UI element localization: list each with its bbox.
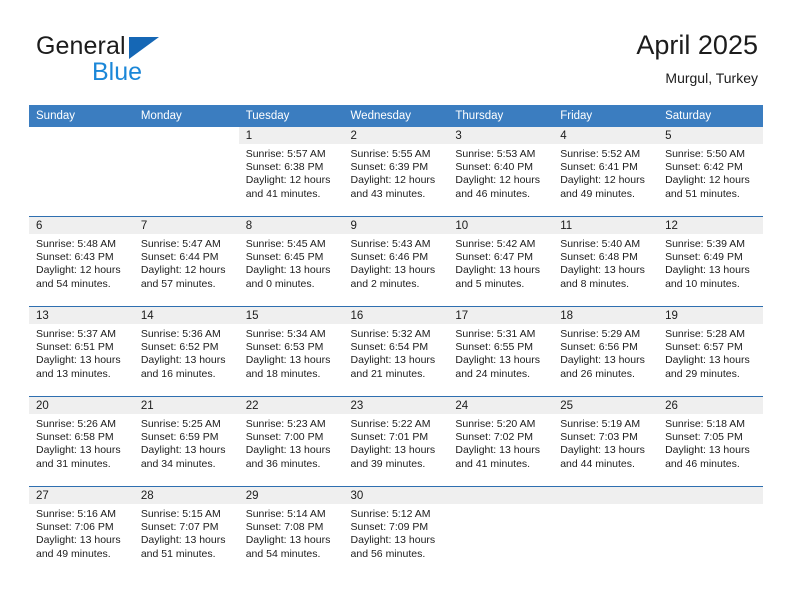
day-cell-inner: 9Sunrise: 5:43 AMSunset: 6:46 PMDaylight… — [344, 217, 449, 306]
day-cell-inner: 8Sunrise: 5:45 AMSunset: 6:45 PMDaylight… — [239, 217, 344, 306]
calendar-day-cell[interactable]: 11Sunrise: 5:40 AMSunset: 6:48 PMDayligh… — [553, 217, 658, 307]
calendar-day-cell[interactable]: 21Sunrise: 5:25 AMSunset: 6:59 PMDayligh… — [134, 397, 239, 487]
brand-logo[interactable]: General Blue — [36, 32, 276, 88]
day-detail-line: Sunset: 6:39 PM — [351, 161, 443, 174]
calendar-day-cell[interactable]: 28Sunrise: 5:15 AMSunset: 7:07 PMDayligh… — [134, 487, 239, 577]
calendar-day-cell[interactable]: 13Sunrise: 5:37 AMSunset: 6:51 PMDayligh… — [29, 307, 134, 397]
day-detail-line: and 21 minutes. — [351, 368, 443, 381]
day-cell-inner: 11Sunrise: 5:40 AMSunset: 6:48 PMDayligh… — [553, 217, 658, 306]
day-number: 17 — [448, 307, 553, 324]
calendar-day-cell[interactable]: 20Sunrise: 5:26 AMSunset: 6:58 PMDayligh… — [29, 397, 134, 487]
day-cell-inner — [658, 487, 763, 576]
day-detail-line: Sunrise: 5:25 AM — [141, 418, 233, 431]
day-sun-details: Sunrise: 5:14 AMSunset: 7:08 PMDaylight:… — [239, 504, 344, 561]
day-cell-inner — [448, 487, 553, 576]
day-cell-inner: 13Sunrise: 5:37 AMSunset: 6:51 PMDayligh… — [29, 307, 134, 396]
day-detail-line: and 54 minutes. — [36, 278, 128, 291]
calendar-day-cell[interactable]: 3Sunrise: 5:53 AMSunset: 6:40 PMDaylight… — [448, 127, 553, 217]
day-detail-line: Daylight: 13 hours — [36, 534, 128, 547]
day-sun-details: Sunrise: 5:42 AMSunset: 6:47 PMDaylight:… — [448, 234, 553, 291]
day-detail-line: and 57 minutes. — [141, 278, 233, 291]
day-detail-line: and 49 minutes. — [36, 548, 128, 561]
weekday-header-tuesday: Tuesday — [239, 105, 344, 127]
day-number: 8 — [239, 217, 344, 234]
calendar-day-cell[interactable]: 29Sunrise: 5:14 AMSunset: 7:08 PMDayligh… — [239, 487, 344, 577]
day-detail-line: Sunset: 6:48 PM — [560, 251, 652, 264]
day-number: 25 — [553, 397, 658, 414]
day-number: 20 — [29, 397, 134, 414]
day-detail-line: Sunset: 6:49 PM — [665, 251, 757, 264]
day-detail-line: and 36 minutes. — [246, 458, 338, 471]
day-number: 2 — [344, 127, 449, 144]
calendar-day-cell[interactable]: 17Sunrise: 5:31 AMSunset: 6:55 PMDayligh… — [448, 307, 553, 397]
calendar-day-cell[interactable]: 23Sunrise: 5:22 AMSunset: 7:01 PMDayligh… — [344, 397, 449, 487]
day-detail-line: Daylight: 13 hours — [351, 354, 443, 367]
day-cell-inner: 18Sunrise: 5:29 AMSunset: 6:56 PMDayligh… — [553, 307, 658, 396]
day-sun-details: Sunrise: 5:19 AMSunset: 7:03 PMDaylight:… — [553, 414, 658, 471]
day-number — [448, 487, 553, 504]
day-detail-line: Sunrise: 5:29 AM — [560, 328, 652, 341]
day-detail-line: Sunset: 7:05 PM — [665, 431, 757, 444]
day-sun-details: Sunrise: 5:25 AMSunset: 6:59 PMDaylight:… — [134, 414, 239, 471]
day-number: 23 — [344, 397, 449, 414]
day-detail-line: and 41 minutes. — [246, 188, 338, 201]
day-cell-inner: 6Sunrise: 5:48 AMSunset: 6:43 PMDaylight… — [29, 217, 134, 306]
day-number: 15 — [239, 307, 344, 324]
calendar-day-cell[interactable]: 14Sunrise: 5:36 AMSunset: 6:52 PMDayligh… — [134, 307, 239, 397]
day-cell-inner: 14Sunrise: 5:36 AMSunset: 6:52 PMDayligh… — [134, 307, 239, 396]
day-detail-line: Daylight: 13 hours — [246, 444, 338, 457]
day-detail-line: and 51 minutes. — [665, 188, 757, 201]
day-number — [134, 127, 239, 144]
day-detail-line: Sunrise: 5:52 AM — [560, 148, 652, 161]
day-detail-line: Sunrise: 5:23 AM — [246, 418, 338, 431]
day-detail-line: Daylight: 13 hours — [560, 354, 652, 367]
day-detail-line: Sunrise: 5:57 AM — [246, 148, 338, 161]
day-cell-inner — [553, 487, 658, 576]
day-cell-inner: 27Sunrise: 5:16 AMSunset: 7:06 PMDayligh… — [29, 487, 134, 576]
day-cell-inner — [134, 127, 239, 216]
day-detail-line: Sunset: 6:47 PM — [455, 251, 547, 264]
calendar-day-cell-empty — [553, 487, 658, 577]
day-detail-line: Sunrise: 5:26 AM — [36, 418, 128, 431]
day-detail-line: Sunset: 6:57 PM — [665, 341, 757, 354]
day-number — [553, 487, 658, 504]
day-number: 26 — [658, 397, 763, 414]
day-number: 29 — [239, 487, 344, 504]
day-detail-line: Sunset: 6:59 PM — [141, 431, 233, 444]
day-detail-line: Sunset: 6:58 PM — [36, 431, 128, 444]
day-detail-line: Daylight: 13 hours — [141, 444, 233, 457]
day-sun-details: Sunrise: 5:15 AMSunset: 7:07 PMDaylight:… — [134, 504, 239, 561]
day-detail-line: and 16 minutes. — [141, 368, 233, 381]
day-sun-details: Sunrise: 5:26 AMSunset: 6:58 PMDaylight:… — [29, 414, 134, 471]
calendar-day-cell[interactable]: 2Sunrise: 5:55 AMSunset: 6:39 PMDaylight… — [344, 127, 449, 217]
day-number: 30 — [344, 487, 449, 504]
day-number: 24 — [448, 397, 553, 414]
day-detail-line: Sunrise: 5:39 AM — [665, 238, 757, 251]
day-detail-line: Sunrise: 5:12 AM — [351, 508, 443, 521]
day-detail-line: Daylight: 13 hours — [246, 354, 338, 367]
day-detail-line: Daylight: 12 hours — [455, 174, 547, 187]
day-detail-line: Sunrise: 5:22 AM — [351, 418, 443, 431]
day-detail-line: Daylight: 12 hours — [36, 264, 128, 277]
day-sun-details: Sunrise: 5:23 AMSunset: 7:00 PMDaylight:… — [239, 414, 344, 471]
day-detail-line: Sunset: 6:38 PM — [246, 161, 338, 174]
day-detail-line: Sunrise: 5:45 AM — [246, 238, 338, 251]
day-cell-inner: 15Sunrise: 5:34 AMSunset: 6:53 PMDayligh… — [239, 307, 344, 396]
day-detail-line: and 44 minutes. — [560, 458, 652, 471]
day-detail-line: Sunset: 6:45 PM — [246, 251, 338, 264]
day-detail-line: Sunrise: 5:31 AM — [455, 328, 547, 341]
day-number: 16 — [344, 307, 449, 324]
calendar-day-cell-empty — [658, 487, 763, 577]
calendar-day-cell[interactable]: 30Sunrise: 5:12 AMSunset: 7:09 PMDayligh… — [344, 487, 449, 577]
day-detail-line: Sunset: 6:56 PM — [560, 341, 652, 354]
calendar-day-cell[interactable]: 16Sunrise: 5:32 AMSunset: 6:54 PMDayligh… — [344, 307, 449, 397]
day-detail-line: Sunset: 6:40 PM — [455, 161, 547, 174]
day-cell-inner: 16Sunrise: 5:32 AMSunset: 6:54 PMDayligh… — [344, 307, 449, 396]
calendar-day-cell[interactable]: 26Sunrise: 5:18 AMSunset: 7:05 PMDayligh… — [658, 397, 763, 487]
day-detail-line: Sunset: 7:08 PM — [246, 521, 338, 534]
calendar-day-cell[interactable]: 1Sunrise: 5:57 AMSunset: 6:38 PMDaylight… — [239, 127, 344, 217]
day-detail-line: Daylight: 13 hours — [246, 534, 338, 547]
calendar-week-row: 27Sunrise: 5:16 AMSunset: 7:06 PMDayligh… — [29, 487, 763, 577]
day-cell-inner: 26Sunrise: 5:18 AMSunset: 7:05 PMDayligh… — [658, 397, 763, 486]
brand-name-general: General — [36, 32, 126, 60]
day-sun-details: Sunrise: 5:53 AMSunset: 6:40 PMDaylight:… — [448, 144, 553, 201]
calendar-week-row: 1Sunrise: 5:57 AMSunset: 6:38 PMDaylight… — [29, 127, 763, 217]
day-detail-line: and 34 minutes. — [141, 458, 233, 471]
calendar-week-row: 6Sunrise: 5:48 AMSunset: 6:43 PMDaylight… — [29, 217, 763, 307]
day-detail-line: and 24 minutes. — [455, 368, 547, 381]
day-sun-details: Sunrise: 5:50 AMSunset: 6:42 PMDaylight:… — [658, 144, 763, 201]
day-detail-line: and 39 minutes. — [351, 458, 443, 471]
day-sun-details: Sunrise: 5:20 AMSunset: 7:02 PMDaylight:… — [448, 414, 553, 471]
day-number — [29, 127, 134, 144]
day-number: 4 — [553, 127, 658, 144]
day-sun-details: Sunrise: 5:57 AMSunset: 6:38 PMDaylight:… — [239, 144, 344, 201]
day-sun-details: Sunrise: 5:29 AMSunset: 6:56 PMDaylight:… — [553, 324, 658, 381]
day-number: 6 — [29, 217, 134, 234]
day-detail-line: and 46 minutes. — [665, 458, 757, 471]
day-detail-line: and 10 minutes. — [665, 278, 757, 291]
day-detail-line: and 41 minutes. — [455, 458, 547, 471]
calendar-grid: Sunday Monday Tuesday Wednesday Thursday… — [29, 105, 763, 576]
day-detail-line: and 56 minutes. — [351, 548, 443, 561]
day-detail-line: and 29 minutes. — [665, 368, 757, 381]
day-detail-line: and 13 minutes. — [36, 368, 128, 381]
day-detail-line: Sunset: 6:42 PM — [665, 161, 757, 174]
day-detail-line: Daylight: 13 hours — [560, 264, 652, 277]
triangle-flag-icon — [129, 37, 159, 59]
weekday-header-wednesday: Wednesday — [344, 105, 449, 127]
calendar-day-cell[interactable]: 27Sunrise: 5:16 AMSunset: 7:06 PMDayligh… — [29, 487, 134, 577]
day-number: 22 — [239, 397, 344, 414]
day-cell-inner: 23Sunrise: 5:22 AMSunset: 7:01 PMDayligh… — [344, 397, 449, 486]
day-detail-line: Sunset: 6:55 PM — [455, 341, 547, 354]
day-detail-line: Sunrise: 5:32 AM — [351, 328, 443, 341]
day-detail-line: Daylight: 12 hours — [141, 264, 233, 277]
day-sun-details: Sunrise: 5:22 AMSunset: 7:01 PMDaylight:… — [344, 414, 449, 471]
day-detail-line: Daylight: 13 hours — [351, 444, 443, 457]
day-detail-line: Sunset: 7:03 PM — [560, 431, 652, 444]
day-detail-line: Sunrise: 5:48 AM — [36, 238, 128, 251]
day-detail-line: Sunrise: 5:14 AM — [246, 508, 338, 521]
title-block: April 2025 Murgul, Turkey — [636, 28, 758, 88]
day-detail-line: Sunrise: 5:42 AM — [455, 238, 547, 251]
day-detail-line: Sunrise: 5:18 AM — [665, 418, 757, 431]
calendar-day-cell[interactable]: 9Sunrise: 5:43 AMSunset: 6:46 PMDaylight… — [344, 217, 449, 307]
day-detail-line: Sunrise: 5:15 AM — [141, 508, 233, 521]
day-detail-line: and 31 minutes. — [36, 458, 128, 471]
day-detail-line: Sunset: 6:44 PM — [141, 251, 233, 264]
day-detail-line: Sunrise: 5:43 AM — [351, 238, 443, 251]
weekday-header-friday: Friday — [553, 105, 658, 127]
day-cell-inner — [29, 127, 134, 216]
day-detail-line: Sunset: 6:52 PM — [141, 341, 233, 354]
day-detail-line: and 5 minutes. — [455, 278, 547, 291]
day-number: 7 — [134, 217, 239, 234]
day-cell-inner: 25Sunrise: 5:19 AMSunset: 7:03 PMDayligh… — [553, 397, 658, 486]
day-detail-line: Sunset: 7:01 PM — [351, 431, 443, 444]
calendar-page: General Blue April 2025 Murgul, Turkey S… — [0, 0, 792, 612]
calendar-day-cell[interactable]: 5Sunrise: 5:50 AMSunset: 6:42 PMDaylight… — [658, 127, 763, 217]
weekday-header-sunday: Sunday — [29, 105, 134, 127]
calendar-day-cell[interactable]: 7Sunrise: 5:47 AMSunset: 6:44 PMDaylight… — [134, 217, 239, 307]
day-detail-line: Daylight: 13 hours — [351, 264, 443, 277]
day-cell-inner: 24Sunrise: 5:20 AMSunset: 7:02 PMDayligh… — [448, 397, 553, 486]
day-sun-details: Sunrise: 5:45 AMSunset: 6:45 PMDaylight:… — [239, 234, 344, 291]
day-detail-line: Daylight: 13 hours — [351, 534, 443, 547]
calendar-day-cell[interactable]: 12Sunrise: 5:39 AMSunset: 6:49 PMDayligh… — [658, 217, 763, 307]
day-detail-line: Daylight: 13 hours — [665, 264, 757, 277]
location-subtitle: Murgul, Turkey — [636, 68, 758, 88]
day-sun-details: Sunrise: 5:34 AMSunset: 6:53 PMDaylight:… — [239, 324, 344, 381]
day-detail-line: Sunrise: 5:40 AM — [560, 238, 652, 251]
day-detail-line: Daylight: 13 hours — [141, 354, 233, 367]
day-number: 19 — [658, 307, 763, 324]
day-detail-line: Sunrise: 5:16 AM — [36, 508, 128, 521]
day-cell-inner: 22Sunrise: 5:23 AMSunset: 7:00 PMDayligh… — [239, 397, 344, 486]
day-detail-line: Sunset: 6:43 PM — [36, 251, 128, 264]
day-detail-line: Sunset: 6:51 PM — [36, 341, 128, 354]
day-sun-details: Sunrise: 5:37 AMSunset: 6:51 PMDaylight:… — [29, 324, 134, 381]
day-cell-inner: 19Sunrise: 5:28 AMSunset: 6:57 PMDayligh… — [658, 307, 763, 396]
day-cell-inner: 3Sunrise: 5:53 AMSunset: 6:40 PMDaylight… — [448, 127, 553, 216]
day-cell-inner: 4Sunrise: 5:52 AMSunset: 6:41 PMDaylight… — [553, 127, 658, 216]
day-sun-details: Sunrise: 5:52 AMSunset: 6:41 PMDaylight:… — [553, 144, 658, 201]
day-number: 9 — [344, 217, 449, 234]
day-detail-line: Sunset: 6:41 PM — [560, 161, 652, 174]
day-sun-details: Sunrise: 5:40 AMSunset: 6:48 PMDaylight:… — [553, 234, 658, 291]
calendar-day-cell[interactable]: 25Sunrise: 5:19 AMSunset: 7:03 PMDayligh… — [553, 397, 658, 487]
day-sun-details: Sunrise: 5:39 AMSunset: 6:49 PMDaylight:… — [658, 234, 763, 291]
day-detail-line: and 0 minutes. — [246, 278, 338, 291]
calendar-body: 1Sunrise: 5:57 AMSunset: 6:38 PMDaylight… — [29, 127, 763, 576]
weekday-header-monday: Monday — [134, 105, 239, 127]
day-cell-inner: 30Sunrise: 5:12 AMSunset: 7:09 PMDayligh… — [344, 487, 449, 576]
day-cell-inner: 28Sunrise: 5:15 AMSunset: 7:07 PMDayligh… — [134, 487, 239, 576]
day-detail-line: Daylight: 12 hours — [560, 174, 652, 187]
day-detail-line: Sunset: 7:09 PM — [351, 521, 443, 534]
day-number: 21 — [134, 397, 239, 414]
day-detail-line: and 46 minutes. — [455, 188, 547, 201]
day-detail-line: Sunrise: 5:28 AM — [665, 328, 757, 341]
day-number: 11 — [553, 217, 658, 234]
day-detail-line: Sunrise: 5:20 AM — [455, 418, 547, 431]
page-title: April 2025 — [636, 28, 758, 62]
day-detail-line: Sunrise: 5:50 AM — [665, 148, 757, 161]
day-cell-inner: 7Sunrise: 5:47 AMSunset: 6:44 PMDaylight… — [134, 217, 239, 306]
day-detail-line: Daylight: 13 hours — [455, 264, 547, 277]
day-sun-details: Sunrise: 5:32 AMSunset: 6:54 PMDaylight:… — [344, 324, 449, 381]
day-cell-inner: 29Sunrise: 5:14 AMSunset: 7:08 PMDayligh… — [239, 487, 344, 576]
day-detail-line: Daylight: 13 hours — [455, 354, 547, 367]
page-header: General Blue April 2025 Murgul, Turkey — [0, 0, 792, 100]
day-cell-inner: 10Sunrise: 5:42 AMSunset: 6:47 PMDayligh… — [448, 217, 553, 306]
day-detail-line: and 49 minutes. — [560, 188, 652, 201]
calendar-day-cell[interactable]: 22Sunrise: 5:23 AMSunset: 7:00 PMDayligh… — [239, 397, 344, 487]
day-sun-details: Sunrise: 5:43 AMSunset: 6:46 PMDaylight:… — [344, 234, 449, 291]
calendar-day-cell[interactable]: 18Sunrise: 5:29 AMSunset: 6:56 PMDayligh… — [553, 307, 658, 397]
day-detail-line: Sunrise: 5:19 AM — [560, 418, 652, 431]
day-detail-line: Sunrise: 5:47 AM — [141, 238, 233, 251]
day-cell-inner: 2Sunrise: 5:55 AMSunset: 6:39 PMDaylight… — [344, 127, 449, 216]
day-number: 14 — [134, 307, 239, 324]
day-cell-inner: 20Sunrise: 5:26 AMSunset: 6:58 PMDayligh… — [29, 397, 134, 486]
day-detail-line: Sunset: 7:00 PM — [246, 431, 338, 444]
calendar-week-row: 13Sunrise: 5:37 AMSunset: 6:51 PMDayligh… — [29, 307, 763, 397]
day-cell-inner: 21Sunrise: 5:25 AMSunset: 6:59 PMDayligh… — [134, 397, 239, 486]
day-detail-line: Daylight: 13 hours — [455, 444, 547, 457]
day-detail-line: Daylight: 13 hours — [36, 444, 128, 457]
calendar-day-cell[interactable]: 10Sunrise: 5:42 AMSunset: 6:47 PMDayligh… — [448, 217, 553, 307]
day-cell-inner: 12Sunrise: 5:39 AMSunset: 6:49 PMDayligh… — [658, 217, 763, 306]
day-sun-details: Sunrise: 5:31 AMSunset: 6:55 PMDaylight:… — [448, 324, 553, 381]
day-detail-line: Sunrise: 5:55 AM — [351, 148, 443, 161]
day-detail-line: Daylight: 13 hours — [36, 354, 128, 367]
calendar-day-cell-empty — [448, 487, 553, 577]
calendar-day-cell-empty — [29, 127, 134, 217]
day-detail-line: Sunrise: 5:34 AM — [246, 328, 338, 341]
calendar-day-cell[interactable]: 4Sunrise: 5:52 AMSunset: 6:41 PMDaylight… — [553, 127, 658, 217]
day-sun-details: Sunrise: 5:12 AMSunset: 7:09 PMDaylight:… — [344, 504, 449, 561]
weekday-header-row: Sunday Monday Tuesday Wednesday Thursday… — [29, 105, 763, 127]
day-sun-details: Sunrise: 5:48 AMSunset: 6:43 PMDaylight:… — [29, 234, 134, 291]
day-detail-line: Daylight: 13 hours — [665, 444, 757, 457]
weekday-header-saturday: Saturday — [658, 105, 763, 127]
calendar-week-row: 20Sunrise: 5:26 AMSunset: 6:58 PMDayligh… — [29, 397, 763, 487]
day-detail-line: Daylight: 13 hours — [141, 534, 233, 547]
day-detail-line: Sunset: 6:46 PM — [351, 251, 443, 264]
day-sun-details: Sunrise: 5:18 AMSunset: 7:05 PMDaylight:… — [658, 414, 763, 471]
day-detail-line: Sunset: 6:53 PM — [246, 341, 338, 354]
day-detail-line: Daylight: 13 hours — [560, 444, 652, 457]
calendar-day-cell[interactable]: 15Sunrise: 5:34 AMSunset: 6:53 PMDayligh… — [239, 307, 344, 397]
day-number: 27 — [29, 487, 134, 504]
day-number: 13 — [29, 307, 134, 324]
day-detail-line: Sunset: 6:54 PM — [351, 341, 443, 354]
day-number: 18 — [553, 307, 658, 324]
day-detail-line: and 8 minutes. — [560, 278, 652, 291]
calendar-day-cell-empty — [134, 127, 239, 217]
day-detail-line: Daylight: 12 hours — [665, 174, 757, 187]
day-sun-details: Sunrise: 5:36 AMSunset: 6:52 PMDaylight:… — [134, 324, 239, 381]
day-detail-line: and 18 minutes. — [246, 368, 338, 381]
day-cell-inner: 1Sunrise: 5:57 AMSunset: 6:38 PMDaylight… — [239, 127, 344, 216]
day-detail-line: Sunset: 7:02 PM — [455, 431, 547, 444]
day-detail-line: Sunrise: 5:37 AM — [36, 328, 128, 341]
day-number — [658, 487, 763, 504]
calendar-day-cell[interactable]: 24Sunrise: 5:20 AMSunset: 7:02 PMDayligh… — [448, 397, 553, 487]
calendar-day-cell[interactable]: 19Sunrise: 5:28 AMSunset: 6:57 PMDayligh… — [658, 307, 763, 397]
brand-name-blue: Blue — [92, 58, 142, 86]
calendar-day-cell[interactable]: 8Sunrise: 5:45 AMSunset: 6:45 PMDaylight… — [239, 217, 344, 307]
day-number: 1 — [239, 127, 344, 144]
day-detail-line: Sunset: 7:06 PM — [36, 521, 128, 534]
day-detail-line: and 2 minutes. — [351, 278, 443, 291]
day-number: 3 — [448, 127, 553, 144]
day-detail-line: Daylight: 12 hours — [246, 174, 338, 187]
day-number: 28 — [134, 487, 239, 504]
day-detail-line: and 54 minutes. — [246, 548, 338, 561]
day-detail-line: Sunrise: 5:53 AM — [455, 148, 547, 161]
day-number: 12 — [658, 217, 763, 234]
day-detail-line: Daylight: 13 hours — [665, 354, 757, 367]
day-sun-details: Sunrise: 5:28 AMSunset: 6:57 PMDaylight:… — [658, 324, 763, 381]
calendar-day-cell[interactable]: 6Sunrise: 5:48 AMSunset: 6:43 PMDaylight… — [29, 217, 134, 307]
day-detail-line: Sunset: 7:07 PM — [141, 521, 233, 534]
day-detail-line: and 26 minutes. — [560, 368, 652, 381]
day-sun-details: Sunrise: 5:16 AMSunset: 7:06 PMDaylight:… — [29, 504, 134, 561]
day-detail-line: Daylight: 12 hours — [351, 174, 443, 187]
day-detail-line: Sunrise: 5:36 AM — [141, 328, 233, 341]
day-sun-details: Sunrise: 5:47 AMSunset: 6:44 PMDaylight:… — [134, 234, 239, 291]
day-detail-line: and 43 minutes. — [351, 188, 443, 201]
day-cell-inner: 5Sunrise: 5:50 AMSunset: 6:42 PMDaylight… — [658, 127, 763, 216]
day-detail-line: and 51 minutes. — [141, 548, 233, 561]
weekday-header-thursday: Thursday — [448, 105, 553, 127]
day-detail-line: Daylight: 13 hours — [246, 264, 338, 277]
day-sun-details: Sunrise: 5:55 AMSunset: 6:39 PMDaylight:… — [344, 144, 449, 201]
day-number: 10 — [448, 217, 553, 234]
day-cell-inner: 17Sunrise: 5:31 AMSunset: 6:55 PMDayligh… — [448, 307, 553, 396]
day-number: 5 — [658, 127, 763, 144]
